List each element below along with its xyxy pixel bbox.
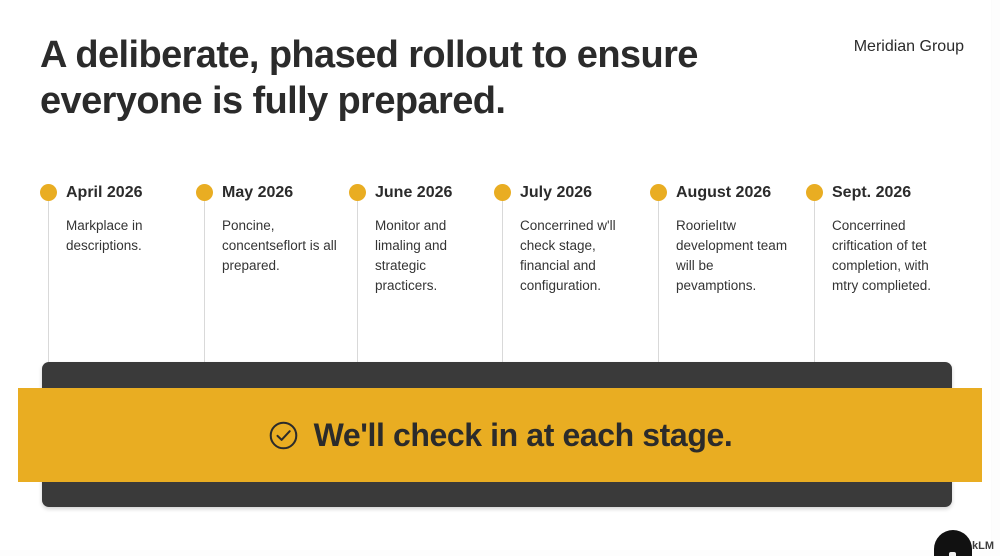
milestone-label: July 2026 <box>520 183 592 203</box>
milestone-description: Markplace in descriptions. <box>66 216 182 256</box>
banner-content: We'll check in at each stage. <box>18 388 982 482</box>
timeline-stem <box>814 192 815 372</box>
milestone-label: April 2026 <box>66 183 142 203</box>
banner-label: We'll check in at each stage. <box>314 416 733 454</box>
timeline-dot-icon <box>349 184 366 201</box>
watermark-text-right: kLM <box>972 540 994 552</box>
milestone-label: May 2026 <box>222 183 293 203</box>
callout-banner: We'll check in at each stage. <box>0 362 1000 507</box>
milestone-label: August 2026 <box>676 183 771 203</box>
slide-edge-bottom <box>0 550 1000 556</box>
slide-canvas: A deliberate, phased rollout to ensure e… <box>0 0 1000 556</box>
timeline-stem <box>658 192 659 372</box>
timeline-dot-icon <box>494 184 511 201</box>
timeline-dot-icon <box>650 184 667 201</box>
timeline-dot-icon <box>806 184 823 201</box>
milestone-description: Concerrined criftication of tet completi… <box>832 216 948 296</box>
milestone-label: June 2026 <box>375 183 452 203</box>
timeline-stem <box>48 192 49 372</box>
milestone-description: Poncine, concentseflort is all prepared. <box>222 216 338 276</box>
timeline-dot-icon <box>40 184 57 201</box>
mouse-cursor <box>934 530 972 556</box>
timeline-stem <box>357 192 358 372</box>
timeline-stem <box>502 192 503 372</box>
timeline-stem <box>204 192 205 372</box>
page-title: A deliberate, phased rollout to ensure e… <box>40 32 780 124</box>
milestone-description: Concerrined w'll check stage, financial … <box>520 216 636 296</box>
check-circle-icon <box>268 420 299 451</box>
milestone-description: Monitor and limaling and strategic pract… <box>375 216 491 296</box>
timeline-dot-icon <box>196 184 213 201</box>
milestone-label: Sept. 2026 <box>832 183 911 203</box>
brand-label: Meridian Group <box>854 37 964 57</box>
timeline: April 2026 Markplace in descriptions. Ma… <box>0 183 1000 368</box>
milestone-description: Roorielıtw development team will be peva… <box>676 216 792 296</box>
